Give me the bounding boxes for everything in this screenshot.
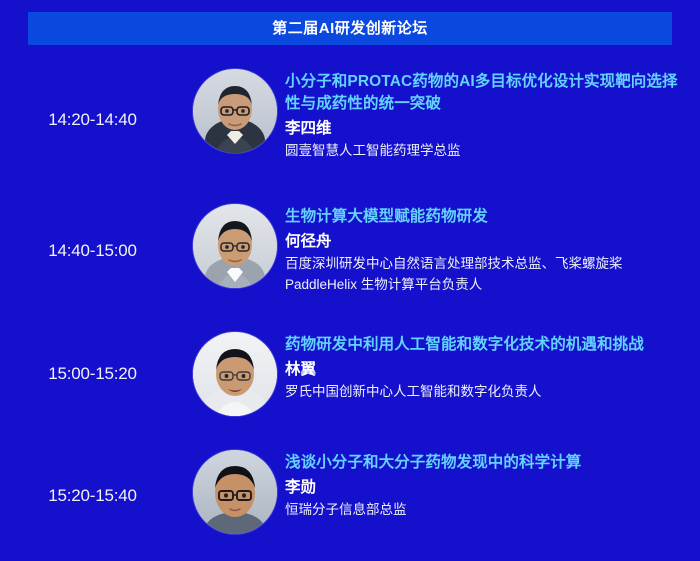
affiliation-line: 圆壹智慧人工智能药理学总监 <box>285 141 678 161</box>
speaker-avatar-cell <box>185 318 285 416</box>
affiliation-line: 百度深圳研发中心自然语言处理部技术总监、飞桨螺旋桨 <box>285 254 678 274</box>
talk-title: 浅谈小分子和大分子药物发现中的科学计算 <box>285 452 678 474</box>
banner-title-text: 第二届AI研发创新论坛 <box>272 21 428 36</box>
speaker-avatar-cell <box>185 190 285 288</box>
agenda-session-row: 15:00-15:20 <box>0 318 700 436</box>
session-time-cell: 14:40-15:00 <box>0 190 185 318</box>
session-info-cell: 小分子和PROTAC药物的AI多目标优化设计实现靶向选择性与成药性的统一突破 李… <box>285 55 700 162</box>
session-time: 14:40-15:00 <box>48 241 137 261</box>
speaker-affiliation: 圆壹智慧人工智能药理学总监 <box>285 141 678 161</box>
session-time: 15:20-15:40 <box>48 486 137 506</box>
agenda-session-row: 14:40-15:00 <box>0 190 700 318</box>
forum-title-banner: 第二届AI研发创新论坛 <box>28 12 672 45</box>
affiliation-line: 罗氏中国创新中心人工智能和数字化负责人 <box>285 382 678 402</box>
session-time: 15:00-15:20 <box>48 364 137 384</box>
session-time-cell: 15:00-15:20 <box>0 318 185 436</box>
avatar <box>193 204 277 288</box>
talk-title: 生物计算大模型赋能药物研发 <box>285 206 678 228</box>
agenda-session-row: 15:20-15:40 <box>0 436 700 561</box>
speaker-name: 林翼 <box>285 359 678 380</box>
talk-title: 药物研发中利用人工智能和数字化技术的机遇和挑战 <box>285 334 678 356</box>
session-info-cell: 浅谈小分子和大分子药物发现中的科学计算 李勋 恒瑞分子信息部总监 <box>285 436 700 521</box>
speaker-name: 何径舟 <box>285 231 678 252</box>
session-info-cell: 药物研发中利用人工智能和数字化技术的机遇和挑战 林翼 罗氏中国创新中心人工智能和… <box>285 318 700 403</box>
avatar <box>193 450 277 534</box>
speaker-avatar-cell <box>185 55 285 153</box>
speaker-name: 李四维 <box>285 118 678 139</box>
affiliation-line: 恒瑞分子信息部总监 <box>285 500 678 520</box>
agenda-session-row: 14:20-14:40 <box>0 55 700 190</box>
speaker-affiliation: 百度深圳研发中心自然语言处理部技术总监、飞桨螺旋桨 PaddleHelix 生物… <box>285 254 678 295</box>
avatar <box>193 332 277 416</box>
affiliation-line: PaddleHelix 生物计算平台负责人 <box>285 275 678 295</box>
session-time: 14:20-14:40 <box>48 110 137 130</box>
speaker-avatar-cell <box>185 436 285 534</box>
speaker-name: 李勋 <box>285 477 678 498</box>
speaker-affiliation: 罗氏中国创新中心人工智能和数字化负责人 <box>285 382 678 402</box>
avatar <box>193 69 277 153</box>
agenda-list: 14:20-14:40 <box>0 55 700 561</box>
talk-title: 小分子和PROTAC药物的AI多目标优化设计实现靶向选择性与成药性的统一突破 <box>285 71 678 115</box>
session-info-cell: 生物计算大模型赋能药物研发 何径舟 百度深圳研发中心自然语言处理部技术总监、飞桨… <box>285 190 700 295</box>
session-time-cell: 14:20-14:40 <box>0 55 185 190</box>
speaker-affiliation: 恒瑞分子信息部总监 <box>285 500 678 520</box>
session-time-cell: 15:20-15:40 <box>0 436 185 561</box>
